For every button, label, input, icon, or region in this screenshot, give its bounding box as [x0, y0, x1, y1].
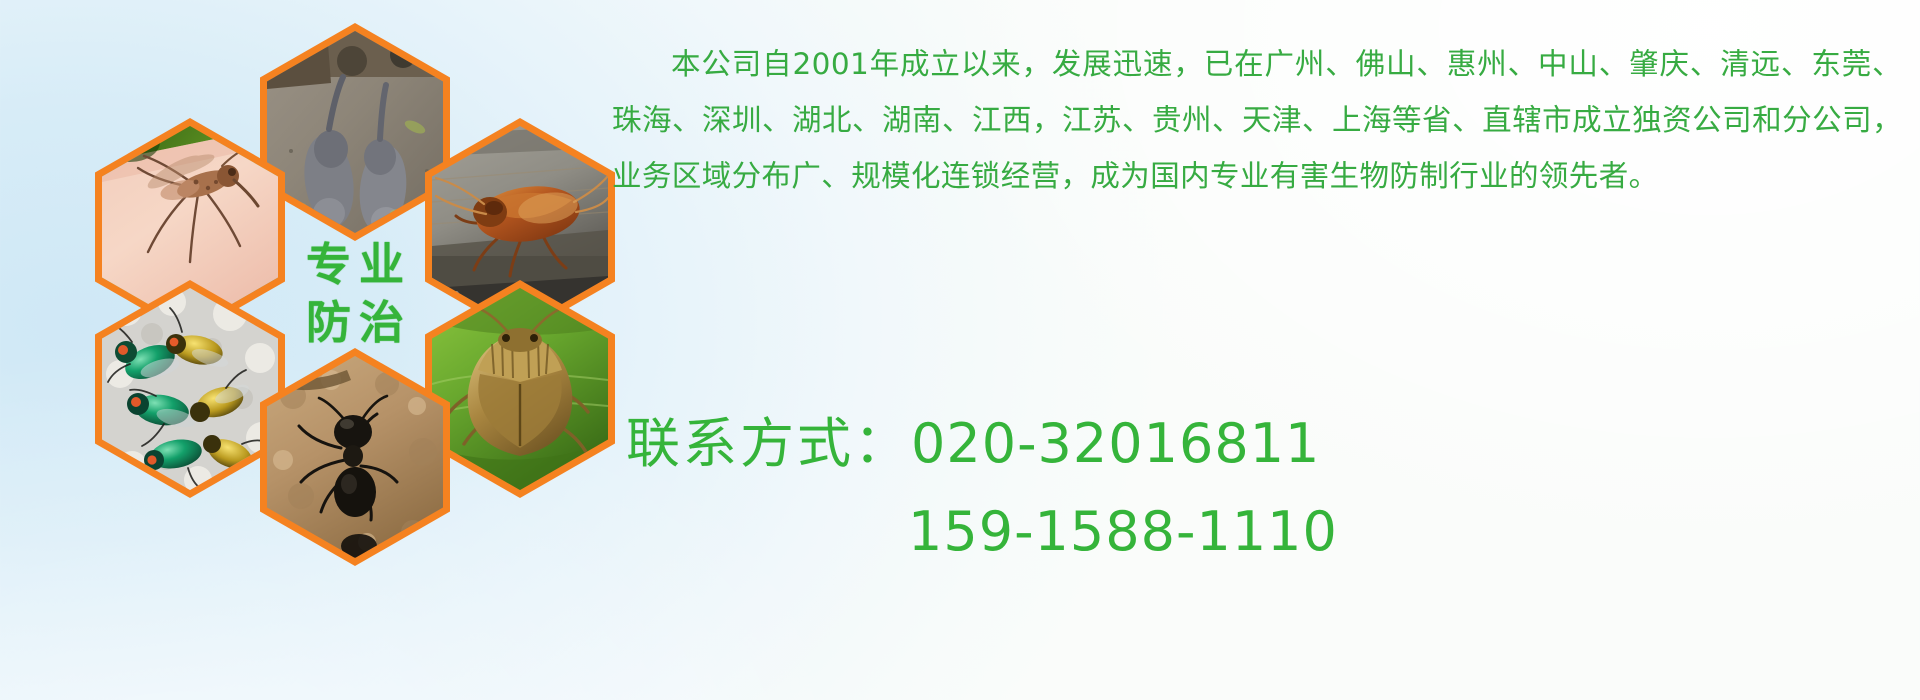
center-label-line-2: 防治	[298, 294, 412, 352]
center-label-line-1: 专业	[298, 236, 412, 294]
phone-primary[interactable]: 020-32016811	[911, 412, 1320, 475]
contact-secondary-line: 159-1588-1110	[612, 488, 1902, 576]
contact-label: 联系方式：	[626, 412, 911, 475]
hex-cell-flies[interactable]	[95, 280, 285, 498]
honeycomb-center-label: 专业 防治	[260, 185, 450, 403]
honeycomb-gallery: 专业 防治	[95, 8, 595, 578]
company-intro-paragraph: 本公司自2001年成立以来，发展迅速，已在广州、佛山、惠州、中山、肇庆、清远、东…	[612, 36, 1902, 204]
fly-photo	[102, 288, 278, 490]
contact-primary-line: 联系方式：020-32016811	[612, 400, 1902, 488]
content-column: 本公司自2001年成立以来，发展迅速，已在广州、佛山、惠州、中山、肇庆、清远、东…	[612, 0, 1912, 700]
phone-secondary[interactable]: 159-1588-1110	[908, 500, 1338, 563]
hex-cell-stinkbug[interactable]	[425, 280, 615, 498]
stinkbug-photo	[432, 288, 608, 490]
contact-block: 联系方式：020-32016811 159-1588-1110	[612, 400, 1902, 576]
